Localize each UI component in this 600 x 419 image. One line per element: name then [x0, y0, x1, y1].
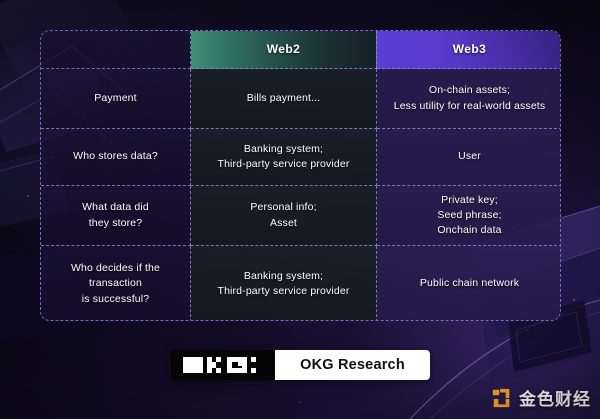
table-cell-web3: User: [377, 129, 561, 186]
okg-logo-icon: [171, 350, 275, 380]
table-cell-web2: Personal info; Asset: [191, 186, 377, 246]
table-grid: Web2 Web3 Payment Bills payment... On-ch…: [41, 31, 560, 320]
okg-research-label: OKG Research: [275, 350, 430, 380]
table-cell-web2: Banking system; Third-party service prov…: [191, 129, 377, 186]
table-cell-web2: Bills payment...: [191, 69, 377, 129]
table-cell-web3: Private key; Seed phrase; Onchain data: [377, 186, 561, 246]
table-row-label: Payment: [41, 69, 191, 129]
table-cell-web3: Public chain network: [377, 246, 561, 321]
comparison-table: Web2 Web3 Payment Bills payment... On-ch…: [40, 30, 561, 321]
watermark: 金色财经: [491, 385, 591, 410]
table-header-web2: Web2: [191, 31, 377, 69]
jinse-logo-icon: [491, 387, 513, 409]
table-row-label: Who decides if the transaction is succes…: [41, 246, 191, 321]
table-row-label: What data did they store?: [41, 186, 191, 246]
watermark-label: 金色财经: [519, 385, 591, 410]
okg-wordmark-icon: [183, 357, 263, 373]
table-row-label: Who stores data?: [41, 129, 191, 186]
table-header-blank: [41, 31, 191, 69]
table-header-web3: Web3: [377, 31, 561, 69]
slide-canvas: Web2 Web3 Payment Bills payment... On-ch…: [0, 0, 600, 419]
table-cell-web3: On-chain assets; Less utility for real-w…: [377, 69, 561, 129]
okg-research-badge: OKG Research: [171, 350, 430, 380]
table-cell-web2: Banking system; Third-party service prov…: [191, 246, 377, 321]
